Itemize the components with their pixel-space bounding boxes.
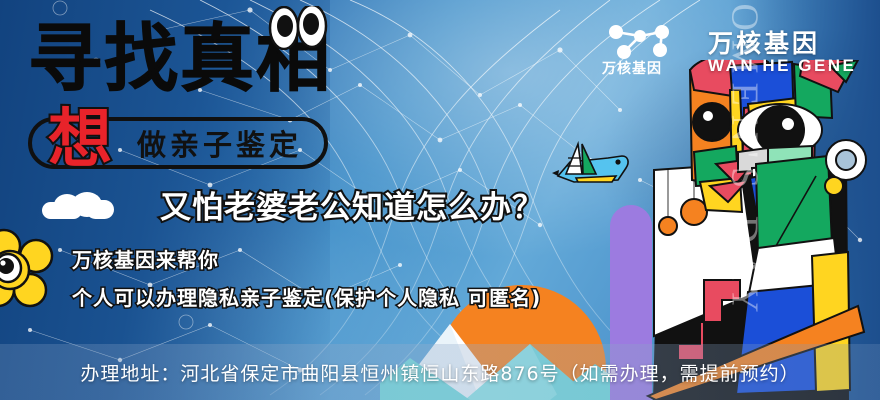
sub-headline: 又怕老婆老公知道怎么办？ (160, 182, 544, 227)
address-text: 办理地址：河北省保定市曲阳县恒州镇恒山东路876号（如需办理，需提前预约） (80, 359, 799, 386)
white-cloud (42, 192, 116, 218)
yellow-flower-eye (0, 228, 66, 312)
cartoon-eyes (268, 6, 328, 50)
logo-subtitle: 万核基因 (602, 58, 662, 78)
pill-label: 做亲子鉴定 (137, 122, 302, 164)
benefit-line-1: 万核基因来帮你 (72, 244, 219, 273)
address-bar: 办理地址：河北省保定市曲阳县恒州镇恒山东路876号（如需办理，需提前预约） (0, 344, 880, 400)
benefit-line-2: 个人可以办理隐私亲子鉴定(保护个人隐私 可匿名) (72, 282, 541, 311)
womens-day-watermark: WOMEN'S DAY (722, 0, 766, 322)
promo-banner: 寻找真相 做亲子鉴定 想 又怕老婆老公知道怎么办？ 万核基因来帮你 个人可以办理… (0, 0, 880, 400)
molecule-icon (604, 22, 680, 62)
stamp-character: 想 (48, 108, 112, 172)
